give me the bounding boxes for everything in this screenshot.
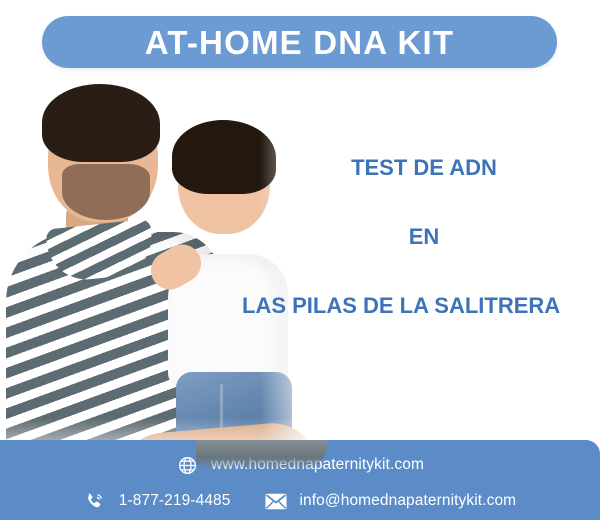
header-badge: AT-HOME DNA KIT bbox=[42, 16, 557, 68]
footer-website-row: www.homednapaternitykit.com bbox=[0, 448, 600, 482]
headline-line-1: TEST DE ADN bbox=[238, 156, 600, 179]
phone-icon bbox=[84, 490, 106, 512]
footer-bar: www.homednapaternitykit.com 1-877-219-44… bbox=[0, 440, 600, 520]
headline-line-2: EN bbox=[238, 225, 600, 248]
phone-label: 1-877-219-4485 bbox=[119, 492, 231, 510]
headline-block: TEST DE ADN EN LAS PILAS DE LA SALITRERA bbox=[250, 156, 600, 317]
email-item[interactable]: info@homednapaternitykit.com bbox=[265, 490, 517, 512]
man-beard bbox=[62, 164, 150, 220]
page-title: AT-HOME DNA KIT bbox=[145, 26, 454, 59]
envelope-icon bbox=[265, 490, 287, 512]
website-label: www.homednapaternitykit.com bbox=[211, 456, 424, 474]
website-item[interactable]: www.homednapaternitykit.com bbox=[176, 454, 424, 476]
footer-contact-row: 1-877-219-4485 info@homednapaternitykit.… bbox=[0, 484, 600, 518]
email-label: info@homednapaternitykit.com bbox=[300, 492, 517, 510]
headline-line-3: LAS PILAS DE LA SALITRERA bbox=[242, 294, 600, 317]
globe-icon bbox=[176, 454, 198, 476]
man-hair bbox=[42, 84, 160, 162]
phone-item[interactable]: 1-877-219-4485 bbox=[84, 490, 231, 512]
poster-canvas: AT-HOME DNA KIT TEST DE ADN EN LAS PILAS… bbox=[0, 0, 600, 520]
